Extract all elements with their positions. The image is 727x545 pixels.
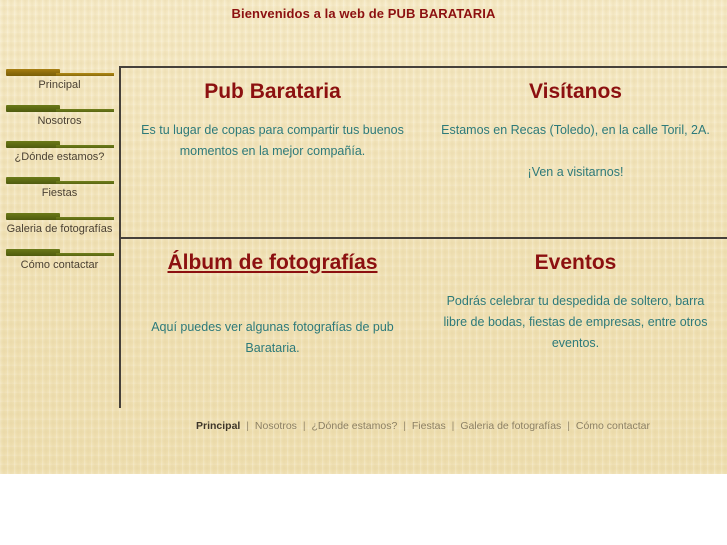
sidebar-bar-icon	[6, 249, 114, 258]
section-visitanos: Visítanos Estamos en Recas (Toledo), en …	[424, 68, 727, 237]
sidebar-item-principal[interactable]: Principal	[0, 66, 119, 102]
sidebar-item-fiestas[interactable]: Fiestas	[0, 174, 119, 210]
sidebar-item-label: Fiestas	[0, 187, 119, 199]
page-bottom-whitespace	[0, 474, 727, 545]
section-heading-link[interactable]: Álbum de fotografías	[121, 251, 424, 275]
sidebar-item-label: Galeria de fotografías	[0, 223, 119, 235]
sidebar-bar-icon	[6, 141, 114, 150]
footer-link-donde-estamos[interactable]: ¿Dónde estamos?	[312, 420, 398, 432]
sidebar-bar-icon	[6, 213, 114, 222]
section-eventos: Eventos Podrás celebrar tu despedida de …	[424, 239, 727, 408]
content-row-bottom: Álbum de fotografías Aquí puedes ver alg…	[121, 237, 727, 408]
section-body-text: Estamos en Recas (Toledo), en la calle T…	[438, 120, 713, 141]
footer-link-fiestas[interactable]: Fiestas	[412, 420, 446, 432]
footer-navigation: Principal | Nosotros | ¿Dónde estamos? |…	[119, 420, 727, 432]
section-pub-barataria: Pub Barataria Es tu lugar de copas para …	[121, 68, 424, 237]
sidebar-navigation: Principal Nosotros ¿Dónde estamos? Fiest…	[0, 66, 119, 282]
sidebar-bar-icon	[6, 177, 114, 186]
sidebar-bar-icon	[6, 69, 114, 78]
section-body-text: Es tu lugar de copas para compartir tus …	[135, 120, 410, 162]
footer-link-como-contactar[interactable]: Cómo contactar	[576, 420, 650, 432]
footer-separator: |	[246, 420, 249, 432]
main-content: Pub Barataria Es tu lugar de copas para …	[119, 66, 727, 408]
section-heading: Eventos	[424, 251, 727, 275]
footer-separator: |	[403, 420, 406, 432]
footer-link-principal[interactable]: Principal	[196, 420, 240, 432]
sidebar-item-label: Nosotros	[0, 115, 119, 127]
page-header: Bienvenidos a la web de PUB BARATARIA	[0, 0, 727, 62]
footer-link-nosotros[interactable]: Nosotros	[255, 420, 297, 432]
section-heading: Visítanos	[424, 80, 727, 104]
section-heading: Pub Barataria	[121, 80, 424, 104]
sidebar-bar-icon	[6, 105, 114, 114]
footer-separator: |	[567, 420, 570, 432]
sidebar-item-label: Principal	[0, 79, 119, 91]
sidebar-item-label: ¿Dónde estamos?	[0, 151, 119, 163]
sidebar-item-como-contactar[interactable]: Cómo contactar	[0, 246, 119, 282]
sidebar-item-galeria-de-fotografias[interactable]: Galeria de fotografías	[0, 210, 119, 246]
page-canvas: Bienvenidos a la web de PUB BARATARIA Pr…	[0, 0, 727, 474]
footer-separator: |	[303, 420, 306, 432]
content-row-top: Pub Barataria Es tu lugar de copas para …	[121, 68, 727, 237]
section-body-text: Aquí puedes ver algunas fotografías de p…	[135, 317, 410, 359]
section-body-text-secondary: ¡Ven a visitarnos!	[438, 162, 713, 183]
section-album-de-fotografias: Álbum de fotografías Aquí puedes ver alg…	[121, 239, 424, 408]
section-body-text: Podrás celebrar tu despedida de soltero,…	[438, 291, 713, 354]
page-title: Bienvenidos a la web de PUB BARATARIA	[0, 6, 727, 21]
footer-separator: |	[452, 420, 455, 432]
footer-link-galeria-de-fotografias[interactable]: Galeria de fotografías	[460, 420, 561, 432]
sidebar-item-nosotros[interactable]: Nosotros	[0, 102, 119, 138]
sidebar-item-donde-estamos[interactable]: ¿Dónde estamos?	[0, 138, 119, 174]
sidebar-item-label: Cómo contactar	[0, 259, 119, 271]
